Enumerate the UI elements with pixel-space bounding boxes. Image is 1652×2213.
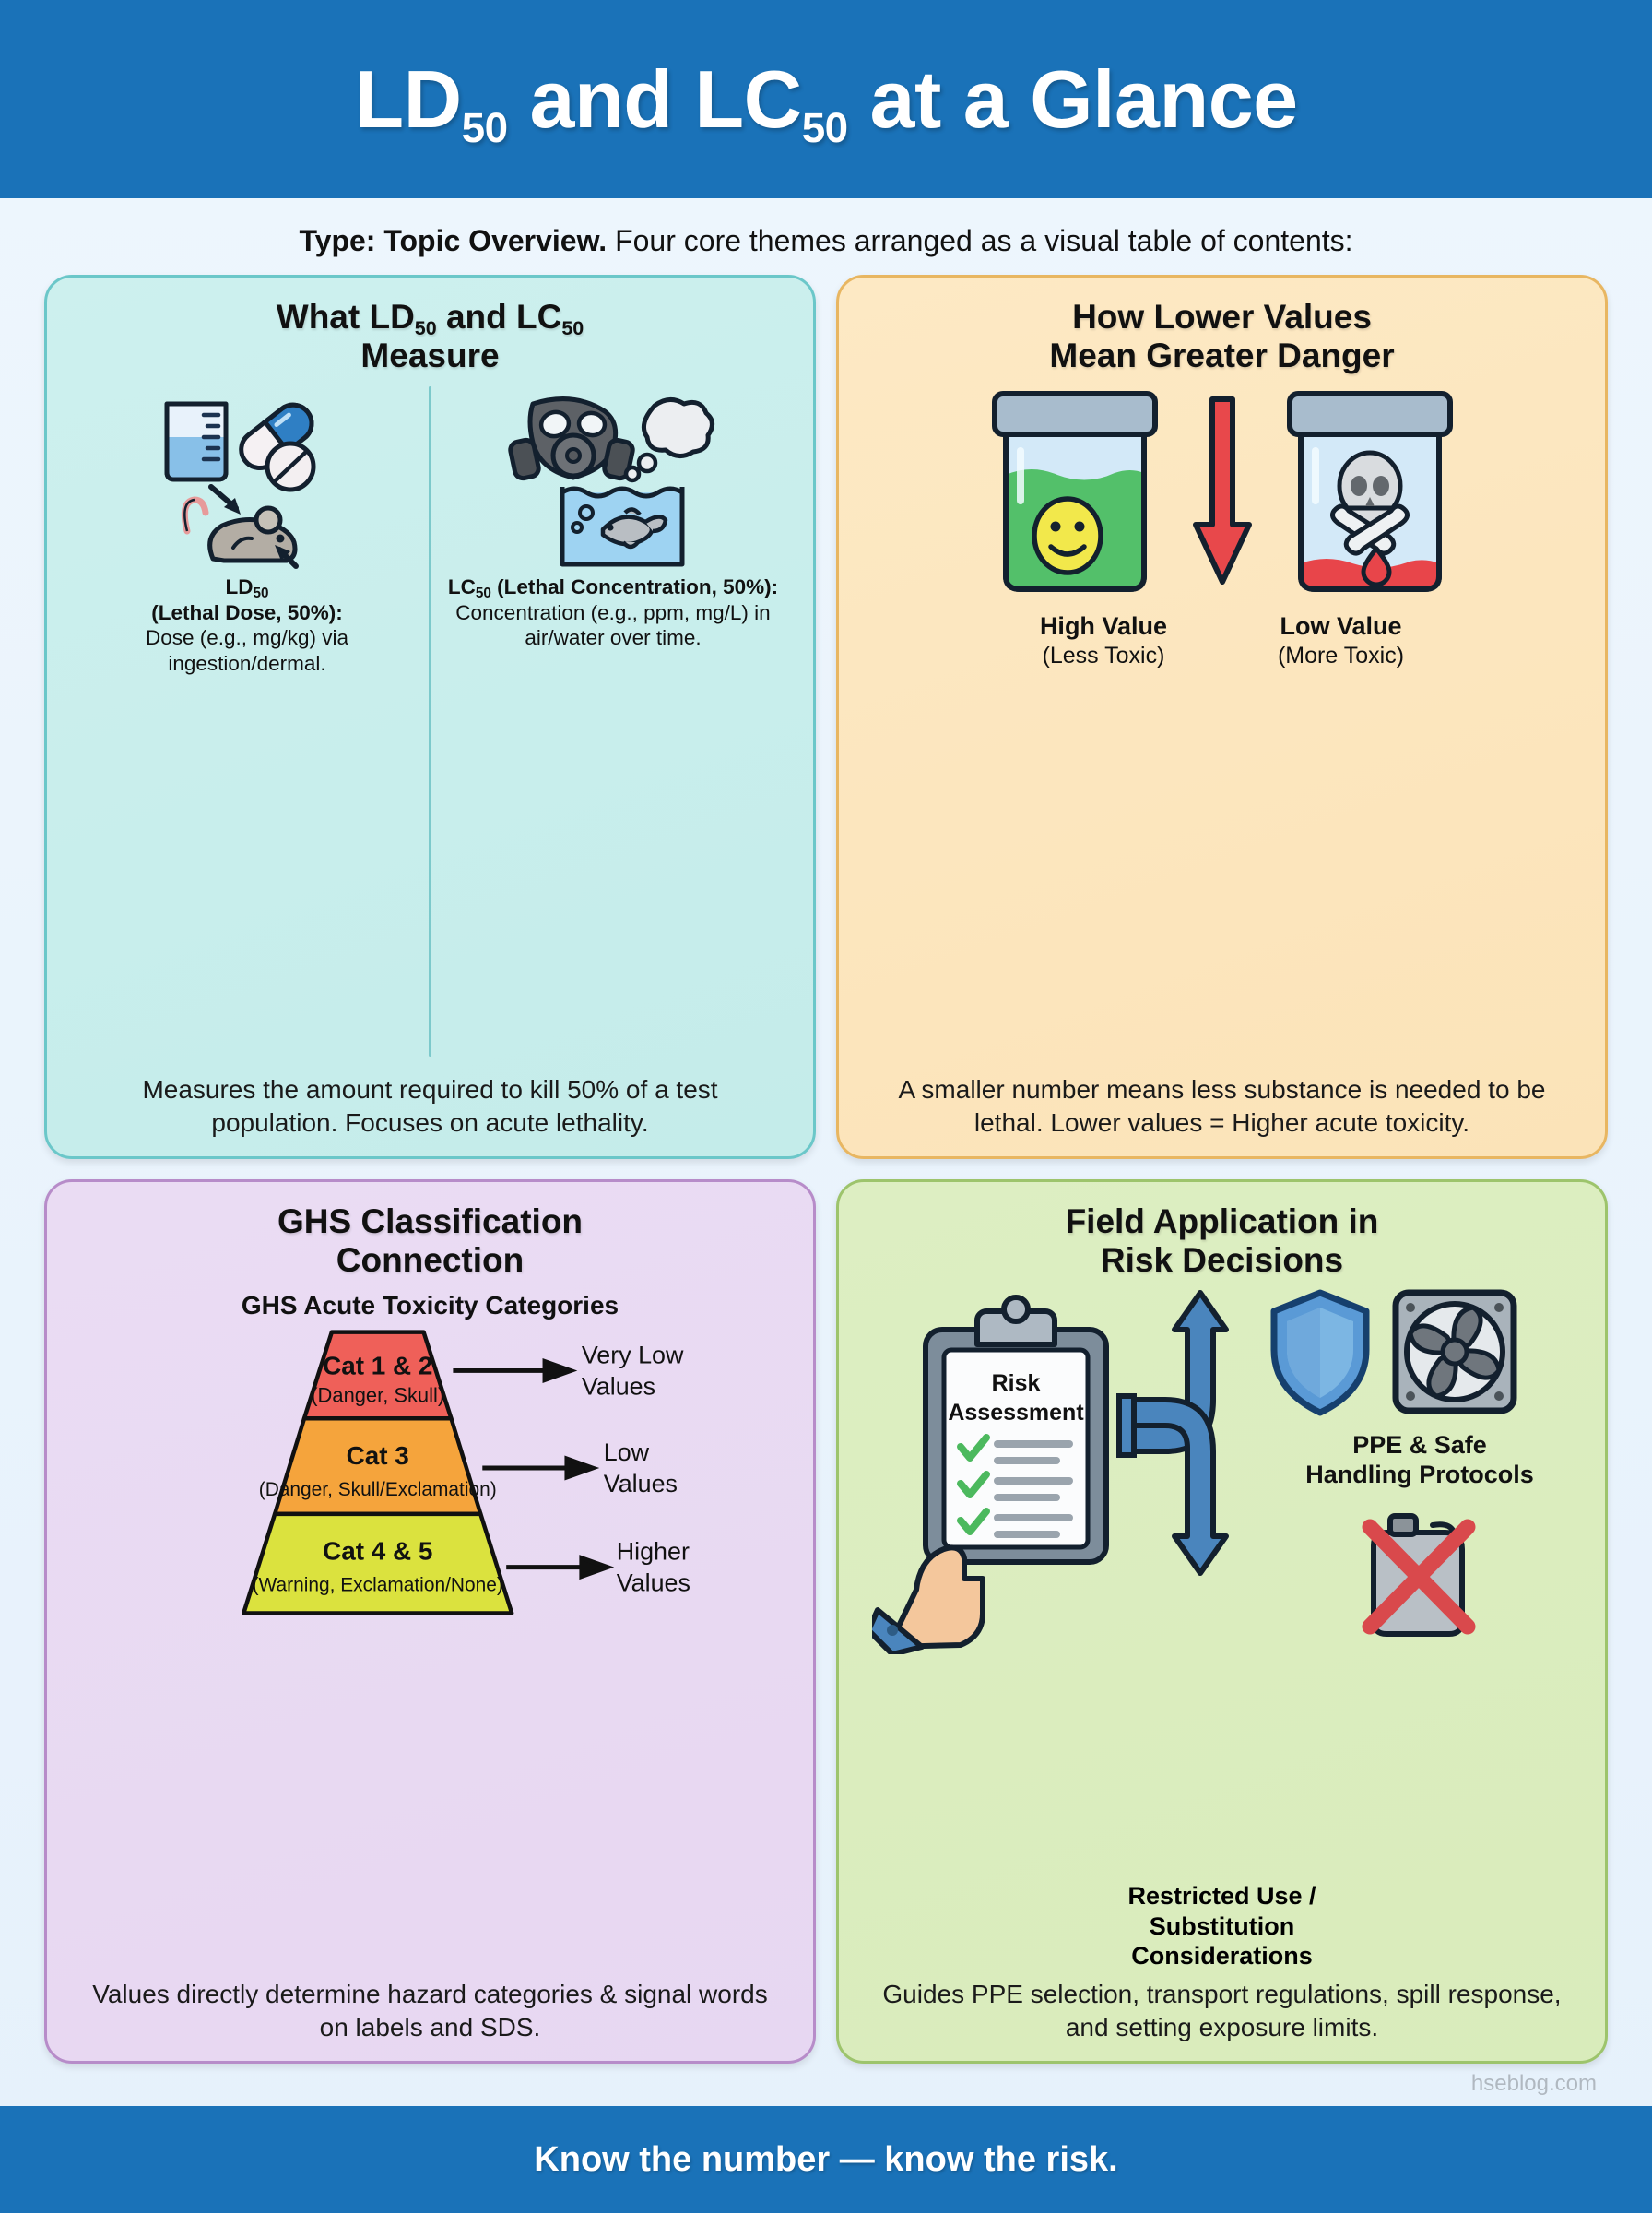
restricted-line-2: Substitution <box>1150 1912 1294 1940</box>
jar-caption-low: Low Value (More Toxic) <box>1278 611 1404 669</box>
footer-banner: Know the number — know the risk. <box>0 2106 1652 2213</box>
svg-text:Values: Values <box>582 1373 655 1401</box>
tablet-icon <box>267 444 313 490</box>
title-mid: and LC <box>508 53 802 145</box>
ld50-caption: LD50 (Lethal Dose, 50%): Dose (e.g., mg/… <box>75 574 419 676</box>
card-title-ghs: GHS Classification Connection <box>277 1202 583 1280</box>
callout-arrow-1 <box>453 1362 571 1380</box>
card-lower-values-danger: How Lower Values Mean Greater Danger <box>836 275 1608 1159</box>
beaker-icon <box>167 404 226 479</box>
cards-grid: What LD50 and LC50 Measure <box>0 275 1652 2064</box>
jar-green-smiley-icon <box>978 386 1172 598</box>
ld50-body: Dose (e.g., mg/kg) via ingestion/dermal. <box>146 626 348 674</box>
arrow-icon <box>211 487 241 515</box>
card-ghs-classification: GHS Classification Connection GHS Acute … <box>44 1179 816 2064</box>
clipboard-line-1: Risk <box>991 1370 1040 1396</box>
ghs-pyramid-artwork: Cat 1 & 2 (Danger, Skull) Cat 3 (Danger,… <box>67 1326 793 1970</box>
lc50-term: LC <box>448 575 476 598</box>
down-arrow-icon <box>1183 386 1262 598</box>
card-summary-what-measure: Measures the amount required to kill 50%… <box>82 1066 779 1140</box>
svg-text:Low: Low <box>604 1438 650 1466</box>
branch-arrow-down-icon <box>1128 1400 1226 1573</box>
ct1sub2: 50 <box>561 317 584 339</box>
subtitle: Type: Topic Overview. Four core themes a… <box>0 198 1652 275</box>
ct4line2: Risk Decisions <box>1101 1241 1343 1279</box>
lc50-artwork <box>507 381 719 574</box>
ct1a: What LD <box>277 298 415 336</box>
card-field-application: Field Application in Risk Decisions Risk… <box>836 1179 1608 2064</box>
ld50-term-sub: 50 <box>254 586 269 601</box>
branch-label-ppe-1: PPE & Safe <box>1352 1431 1487 1459</box>
svg-text:(Danger, Skull): (Danger, Skull) <box>311 1384 444 1407</box>
vapor-cloud-icon <box>626 399 713 480</box>
ct3line1: GHS Classification <box>277 1202 583 1240</box>
card-what-measure: What LD50 and LC50 Measure <box>44 275 816 1159</box>
jar-captions: High Value (Less Toxic) Low Value (More … <box>1040 611 1404 669</box>
high-value-label: High Value <box>1040 611 1167 641</box>
jerrycan-restricted-icon <box>1370 1516 1468 1634</box>
lc50-column: LC50 (Lethal Concentration, 50%): Concen… <box>433 381 793 1066</box>
ct1line2: Measure <box>360 337 499 374</box>
ct3line2: Connection <box>336 1241 524 1279</box>
high-value-sublabel: (Less Toxic) <box>1040 642 1167 669</box>
lc50-term-bold: (Lethal Concentration, 50%): <box>491 575 778 598</box>
lc50-term-sub: 50 <box>476 586 491 601</box>
jar-caption-high: High Value (Less Toxic) <box>1040 611 1167 669</box>
branch-label-restricted: Restricted Use / Substitution Considerat… <box>859 1881 1585 1970</box>
card-title-lower-values: How Lower Values Mean Greater Danger <box>1049 298 1394 375</box>
svg-text:Cat 1 & 2: Cat 1 & 2 <box>323 1352 432 1380</box>
low-value-label: Low Value <box>1278 611 1404 641</box>
callout-arrow-2 <box>482 1459 593 1477</box>
svg-text:Values: Values <box>617 1569 690 1597</box>
title-sub-1: 50 <box>462 104 508 151</box>
clipboard-hand-icon: Risk Assessment <box>872 1297 1106 1654</box>
lc50-caption: LC50 (Lethal Concentration, 50%): Concen… <box>441 574 785 650</box>
site-credit: hseblog.com <box>0 2064 1652 2106</box>
subtitle-bold: Type: Topic Overview. <box>299 224 607 257</box>
title-suffix: at a Glance <box>848 53 1298 145</box>
ventilation-fan-icon <box>1396 1293 1514 1411</box>
ct4line1: Field Application in <box>1066 1202 1379 1240</box>
ghs-pyramid-icon: Cat 1 & 2 (Danger, Skull) Cat 3 (Danger,… <box>67 1326 793 1630</box>
card-title-field-application: Field Application in Risk Decisions <box>1066 1202 1379 1280</box>
title-sub-2: 50 <box>802 104 848 151</box>
shield-icon <box>1274 1293 1366 1413</box>
jars-artwork <box>978 386 1467 598</box>
subtitle-rest: Four core themes arranged as a visual ta… <box>607 224 1352 257</box>
ld50-term: LD <box>226 575 254 598</box>
card-summary-field-application: Guides PPE selection, transport regulati… <box>874 1970 1571 2044</box>
branch-label-ppe-2: Handling Protocols <box>1305 1461 1534 1488</box>
ct1b: and LC <box>437 298 562 336</box>
svg-text:Cat 4 & 5: Cat 4 & 5 <box>323 1537 432 1566</box>
low-value-sublabel: (More Toxic) <box>1278 642 1404 669</box>
svg-text:Cat 3: Cat 3 <box>347 1441 409 1470</box>
restricted-line-3: Considerations <box>1131 1942 1313 1970</box>
page-title: LD50 and LC50 at a Glance <box>354 53 1297 147</box>
card-title-what-measure: What LD50 and LC50 Measure <box>277 298 584 375</box>
svg-text:(Danger, Skull/Exclamation): (Danger, Skull/Exclamation) <box>259 1479 497 1500</box>
card-summary-lower-values: A smaller number means less substance is… <box>874 1066 1571 1140</box>
ct2line2: Mean Greater Danger <box>1049 337 1394 374</box>
svg-text:Values: Values <box>604 1470 678 1497</box>
clipboard-line-2: Assessment <box>948 1400 1084 1426</box>
ct1sub1: 50 <box>415 317 437 339</box>
header-banner: LD50 and LC50 at a Glance <box>0 0 1652 198</box>
ld50-artwork <box>132 381 362 574</box>
svg-text:Very Low: Very Low <box>582 1342 684 1369</box>
lc50-body: Concentration (e.g., ppm, mg/L) in air/w… <box>455 601 770 649</box>
ld50-column: LD50 (Lethal Dose, 50%): Dose (e.g., mg/… <box>67 381 427 1066</box>
jar-skull-crossbones-icon <box>1273 386 1467 598</box>
pyramid-heading: GHS Acute Toxicity Categories <box>242 1291 619 1320</box>
svg-text:Higher: Higher <box>617 1538 690 1566</box>
fish-tank-icon <box>562 487 682 564</box>
gas-mask-icon <box>509 398 634 479</box>
ct2line1: How Lower Values <box>1072 298 1372 336</box>
svg-text:(Warning, Exclamation/None): (Warning, Exclamation/None) <box>253 1575 503 1596</box>
column-divider <box>429 386 431 1057</box>
field-application-artwork: Risk Assessment <box>859 1285 1585 1894</box>
smiley-icon <box>1034 499 1101 573</box>
card-summary-ghs: Values directly determine hazard categor… <box>82 1970 779 2044</box>
ld50-term-bold: (Lethal Dose, 50%): <box>151 601 343 624</box>
infographic-page: LD50 and LC50 at a Glance Type: Topic Ov… <box>0 0 1652 2213</box>
footer-tagline: Know the number — know the risk. <box>534 2140 1117 2180</box>
callout-arrow-3 <box>506 1558 608 1577</box>
title-prefix: LD <box>354 53 461 145</box>
